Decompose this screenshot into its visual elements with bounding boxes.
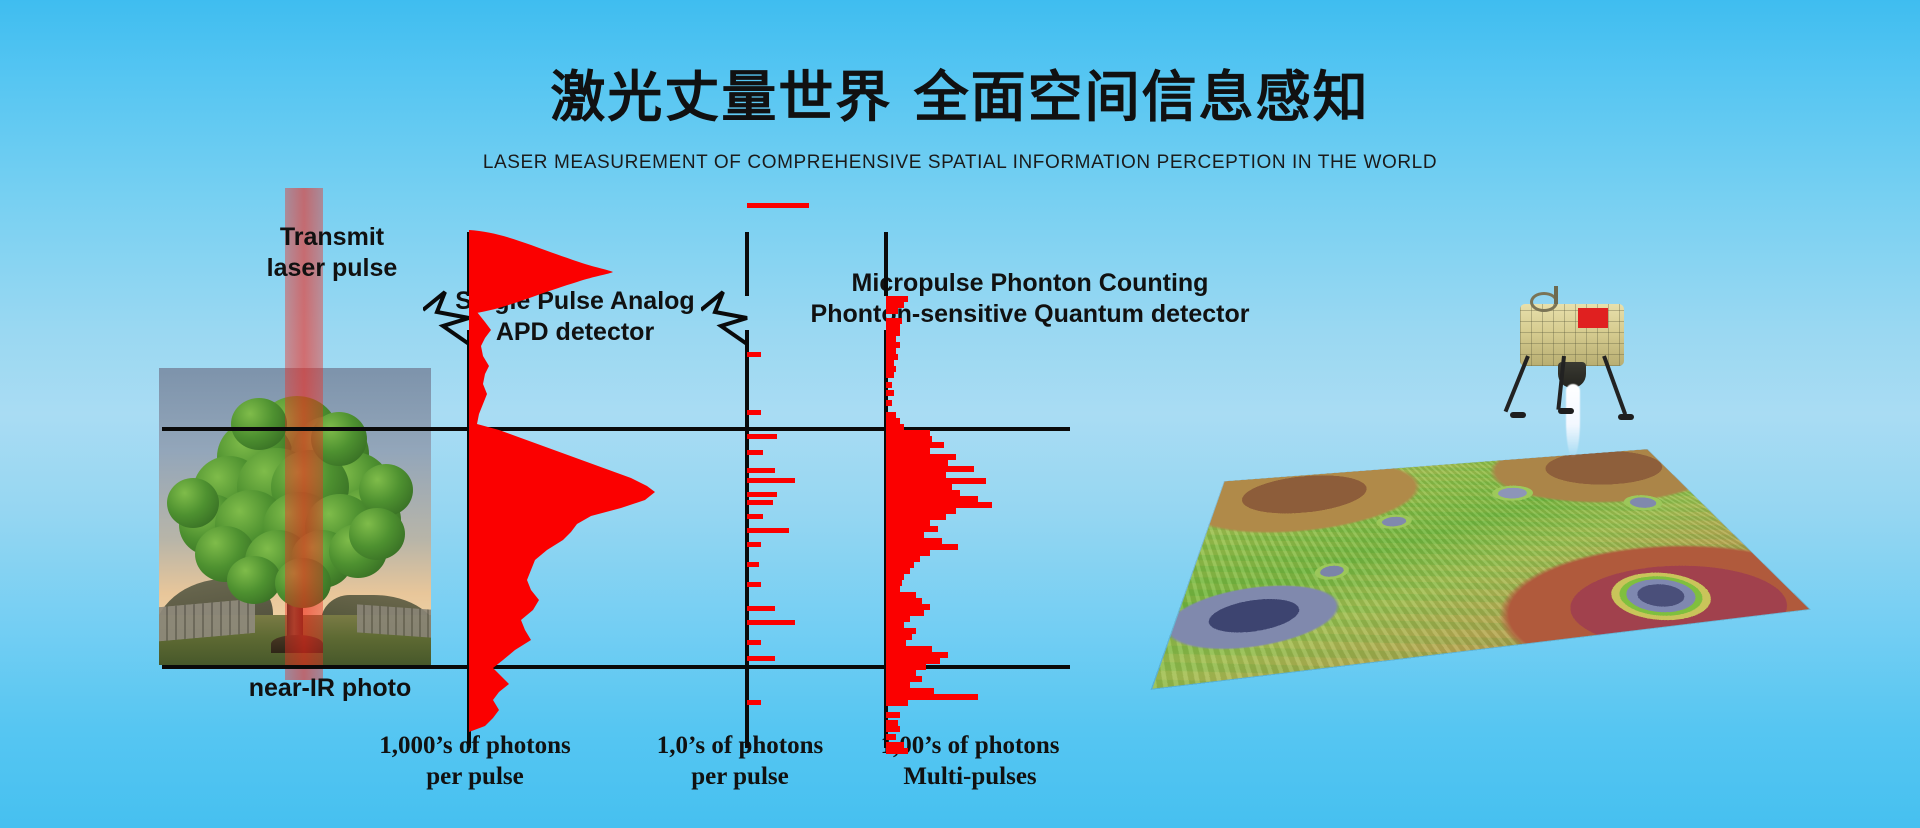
photon-bar (747, 528, 789, 533)
photon-bar (747, 606, 775, 611)
photon-bar (886, 372, 894, 378)
red-flag-icon (1578, 308, 1608, 328)
photon-bar (747, 582, 761, 587)
lander-body (1520, 304, 1624, 366)
photon-bar (886, 734, 896, 740)
lander-foot-3 (1618, 414, 1634, 420)
photon-bar (747, 514, 763, 519)
photon-bar (747, 542, 761, 547)
axis-micropulse-sparse-upper (745, 232, 749, 296)
dem-terrain-surface (1152, 449, 1809, 688)
photon-bar (747, 468, 775, 473)
lunar-lander (1506, 300, 1638, 428)
axis-break-zigzag-2 (701, 288, 759, 348)
photon-bar (886, 382, 892, 388)
photon-bar (747, 203, 809, 208)
photon-bar (747, 562, 759, 567)
photon-bar (747, 352, 761, 357)
photon-bar (886, 700, 908, 706)
photon-bar (747, 450, 763, 455)
engine-plume (1566, 384, 1580, 458)
photon-bar (886, 748, 908, 754)
photon-bar (747, 500, 773, 505)
photon-bar (747, 492, 777, 497)
photon-bar (886, 712, 900, 718)
axis-photon-counting-histogram-upper (884, 232, 888, 296)
poster-canvas: 激光丈量世界 全面空间信息感知 LASER MEASUREMENT OF COM… (0, 0, 1920, 828)
photon-bar (747, 656, 775, 661)
photon-bar (886, 400, 892, 406)
analog-return-waveform (469, 253, 699, 732)
axis-micropulse-sparse-lower (745, 330, 749, 748)
lander-foot-2 (1558, 408, 1574, 414)
lunar-lander-scene (1190, 300, 1770, 720)
photon-bar (886, 308, 898, 314)
antenna-mast (1554, 286, 1558, 304)
lander-leg-1 (1504, 355, 1530, 412)
photon-bar (886, 390, 894, 396)
photon-bar (747, 640, 761, 645)
photon-bar (886, 726, 900, 732)
photon-bar (747, 410, 761, 415)
photon-bar (747, 700, 761, 705)
lander-foot-1 (1510, 412, 1526, 418)
photon-bar (747, 478, 795, 483)
photon-bar (747, 434, 777, 439)
photon-bar (747, 620, 795, 625)
